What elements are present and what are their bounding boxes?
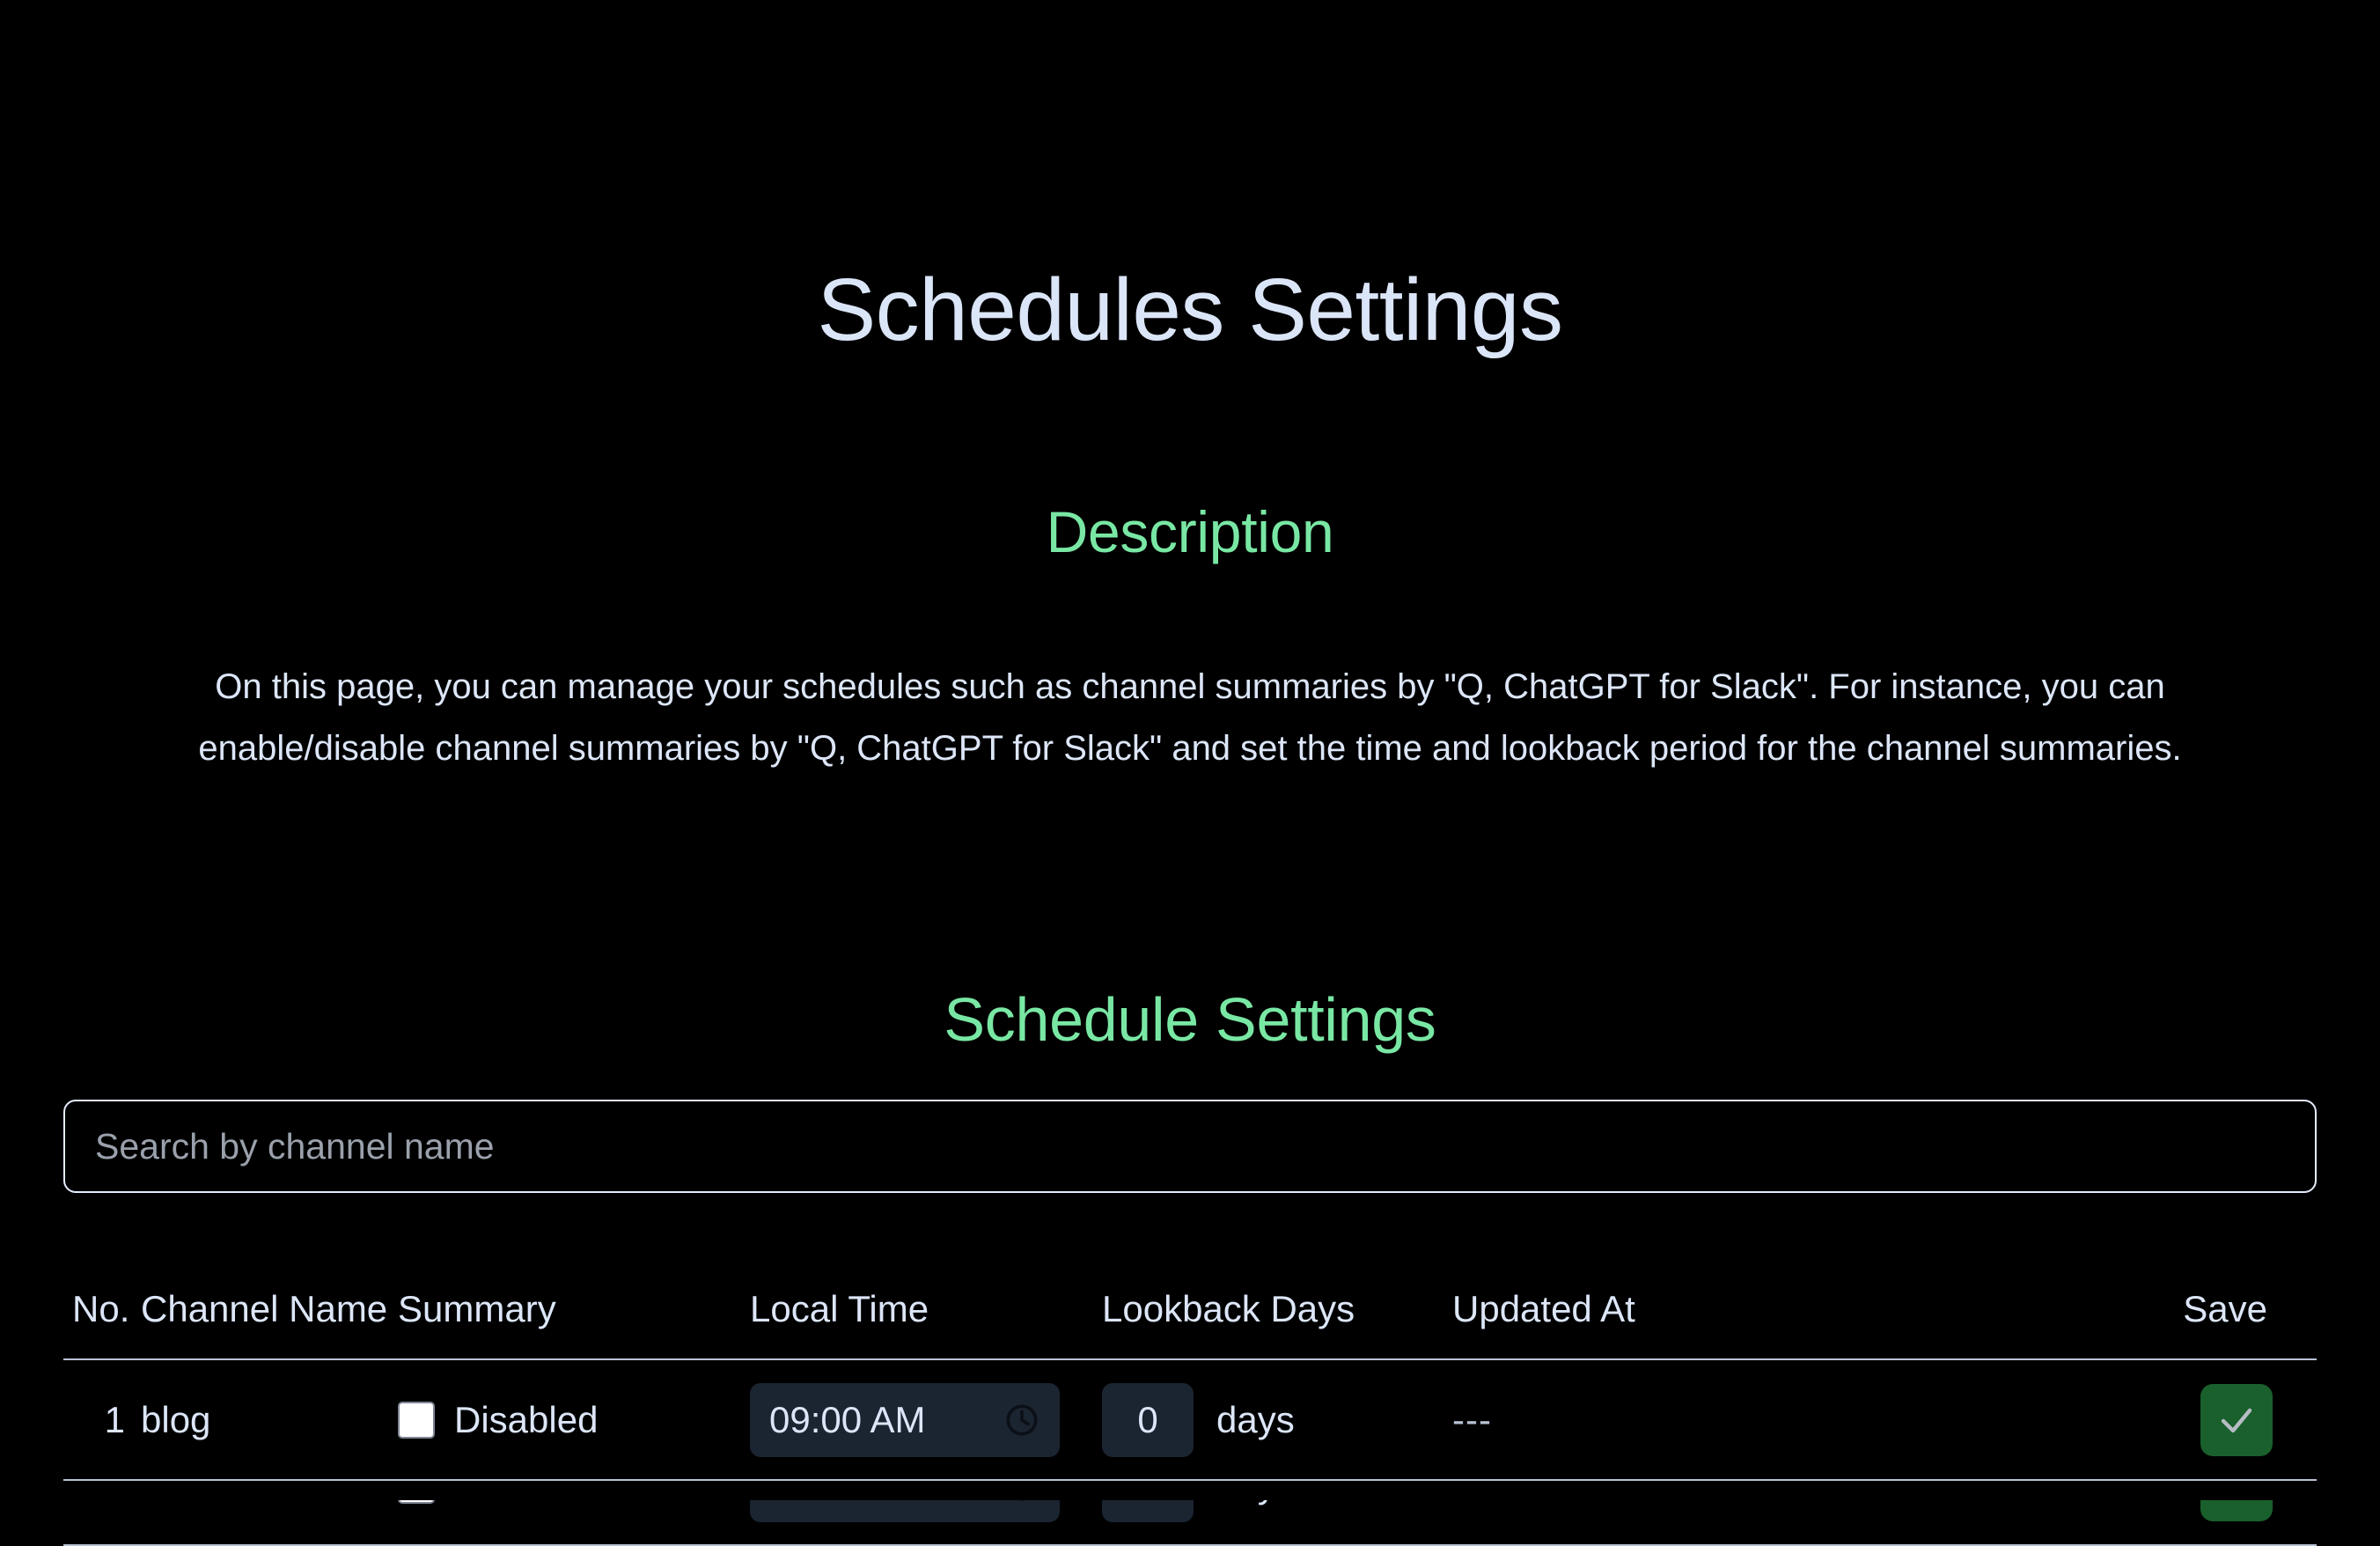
column-header-lookback-days: Lookback Days [1102, 1288, 1452, 1330]
lookback-days-value: 0 [1137, 1399, 1157, 1441]
summary-checkbox[interactable] [398, 1402, 435, 1439]
local-time-value: 09:00 AM [769, 1399, 993, 1441]
save-button[interactable] [2200, 1500, 2273, 1521]
check-icon [2215, 1500, 2258, 1506]
save-button[interactable] [2200, 1384, 2273, 1456]
table-row: 1 blog Disabled 09:00 AM [63, 1360, 2317, 1481]
summary-status-label: Disabled [454, 1399, 598, 1441]
clock-icon[interactable] [1003, 1402, 1040, 1439]
column-header-local-time: Local Time [750, 1288, 1102, 1330]
table-row-partial-clip: 2 business-mail Disabled 09:00 AM [0, 1500, 2380, 1546]
summary-checkbox[interactable] [398, 1500, 435, 1504]
lookback-days-input[interactable]: 0 [1102, 1500, 1194, 1522]
summary-status-label: Disabled [454, 1500, 598, 1506]
local-time-value: 09:00 AM [769, 1500, 993, 1506]
schedule-settings-heading: Schedule Settings [0, 984, 2380, 1056]
schedules-table: No. Channel Name Summary Local Time Look… [63, 1259, 2317, 1481]
local-time-input[interactable]: 09:00 AM [750, 1383, 1060, 1457]
updated-at-value: --- [1452, 1399, 1492, 1440]
days-unit-label: days [1216, 1500, 1295, 1506]
row-number: 1 [105, 1399, 125, 1440]
lookback-days-input[interactable]: 0 [1102, 1383, 1194, 1457]
channel-name: business-mail [141, 1500, 367, 1506]
search-input[interactable] [65, 1101, 2315, 1191]
clock-icon[interactable] [1003, 1500, 1040, 1504]
schedules-settings-page: Schedules Settings Description On this p… [0, 0, 2380, 1546]
updated-at-value: --- [1452, 1500, 1492, 1506]
column-header-no: No. [63, 1288, 141, 1330]
page-title: Schedules Settings [0, 261, 2380, 358]
channel-name: blog [141, 1399, 210, 1440]
description-body: On this page, you can manage your schedu… [132, 656, 2248, 779]
row-number: 2 [105, 1500, 125, 1506]
lookback-days-value: 0 [1137, 1500, 1157, 1506]
description-heading: Description [0, 499, 2380, 566]
table-row: 2 business-mail Disabled 09:00 AM [63, 1500, 2317, 1546]
table-header-row: No. Channel Name Summary Local Time Look… [63, 1259, 2317, 1360]
column-header-summary: Summary [398, 1288, 750, 1330]
days-unit-label: days [1216, 1399, 1295, 1441]
column-header-channel-name: Channel Name [141, 1288, 398, 1330]
search-field-wrapper[interactable] [63, 1100, 2317, 1193]
local-time-input[interactable]: 09:00 AM [750, 1500, 1060, 1522]
check-icon [2215, 1399, 2258, 1441]
column-header-updated-at: Updated At [1452, 1288, 2016, 1330]
column-header-save: Save [2016, 1288, 2317, 1330]
